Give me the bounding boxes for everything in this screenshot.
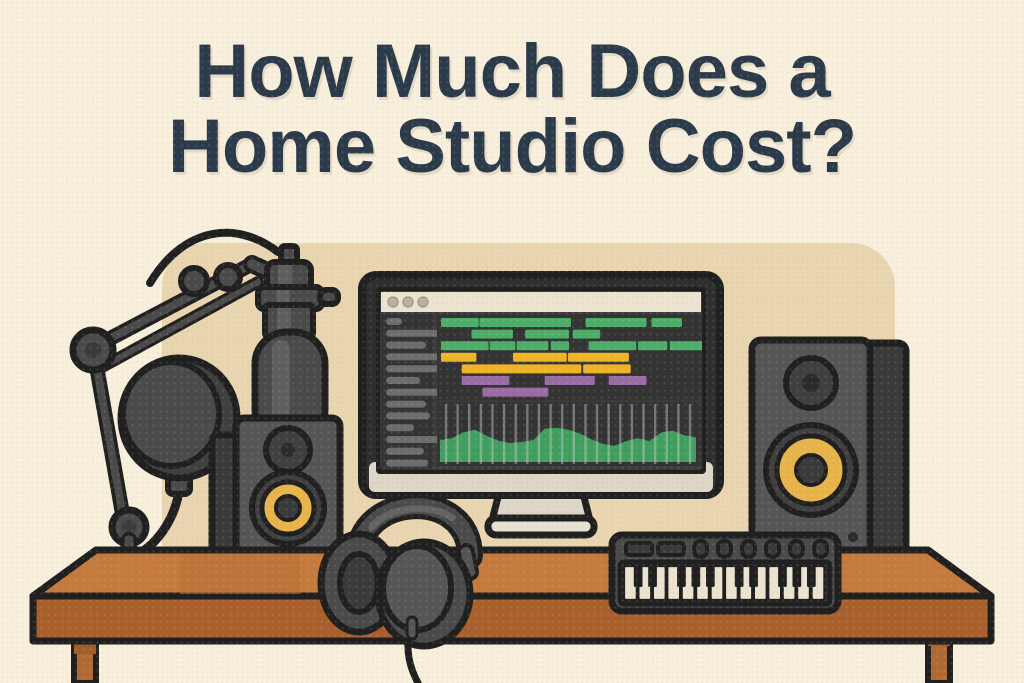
daw-clip[interactable] xyxy=(462,376,510,385)
daw-track-label[interactable] xyxy=(386,389,444,396)
daw-track-label[interactable] xyxy=(386,365,440,372)
daw-track-label[interactable] xyxy=(386,342,426,349)
daw-clip[interactable] xyxy=(441,353,476,362)
midi-black-key[interactable] xyxy=(692,566,701,587)
daw-track-label[interactable] xyxy=(386,436,440,443)
midi-black-key[interactable] xyxy=(749,566,758,587)
daw-clip[interactable] xyxy=(573,330,600,339)
daw-clip[interactable] xyxy=(462,364,582,373)
daw-track-label[interactable] xyxy=(386,448,424,455)
desk-top xyxy=(33,550,991,596)
daw-clip[interactable] xyxy=(490,341,516,350)
midi-black-key[interactable] xyxy=(706,566,715,587)
daw-clip[interactable] xyxy=(482,388,548,397)
title-line-2: Home Studio Cost? xyxy=(0,109,1024,184)
daw-clip[interactable] xyxy=(441,341,489,350)
desk-apron xyxy=(33,596,991,641)
desk xyxy=(33,550,991,683)
daw-clip[interactable] xyxy=(609,376,647,385)
daw-screen xyxy=(380,291,708,472)
daw-clip[interactable] xyxy=(513,353,567,362)
midi-knob[interactable] xyxy=(790,541,803,557)
daw-clip[interactable] xyxy=(472,330,513,339)
daw-clip[interactable] xyxy=(551,341,569,350)
daw-track-label[interactable] xyxy=(386,401,426,408)
midi-black-key[interactable] xyxy=(648,566,657,587)
studio-monitor-left xyxy=(212,418,340,555)
window-dot-maximize xyxy=(418,297,428,307)
window-dot-minimize xyxy=(403,297,413,307)
daw-clip[interactable] xyxy=(638,341,667,350)
daw-track-label[interactable] xyxy=(386,353,444,360)
midi-knob[interactable] xyxy=(742,541,755,557)
daw-clip[interactable] xyxy=(441,318,479,327)
daw-clip[interactable] xyxy=(651,318,682,327)
page-title: How Much Does a Home Studio Cost? xyxy=(0,34,1024,184)
midi-black-key[interactable] xyxy=(677,566,686,587)
midi-black-key[interactable] xyxy=(634,566,643,587)
midi-knob[interactable] xyxy=(718,541,731,557)
midi-knob[interactable] xyxy=(694,541,707,557)
daw-clip[interactable] xyxy=(479,318,571,327)
daw-track-label[interactable] xyxy=(386,412,430,419)
illustration-canvas: How Much Does a Home Studio Cost? xyxy=(0,0,1024,683)
daw-clip[interactable] xyxy=(670,341,708,350)
title-line-1: How Much Does a xyxy=(0,34,1024,109)
midi-keyboard[interactable] xyxy=(612,535,838,611)
daw-track-label[interactable] xyxy=(386,460,428,467)
daw-clip[interactable] xyxy=(568,353,629,362)
midi-black-key[interactable] xyxy=(735,566,744,587)
midi-black-key[interactable] xyxy=(807,566,816,587)
daw-clip[interactable] xyxy=(589,341,637,350)
daw-clip[interactable] xyxy=(517,341,549,350)
midi-black-key[interactable] xyxy=(793,566,802,587)
daw-track-label[interactable] xyxy=(386,318,402,325)
daw-track-label[interactable] xyxy=(386,424,414,431)
daw-clip[interactable] xyxy=(586,318,647,327)
daw-track-label[interactable] xyxy=(386,377,420,384)
daw-clip[interactable] xyxy=(545,376,595,385)
midi-knob[interactable] xyxy=(766,541,779,557)
midi-black-key[interactable] xyxy=(778,566,787,587)
daw-clip[interactable] xyxy=(525,330,569,339)
window-dot-close xyxy=(388,297,398,307)
daw-clip[interactable] xyxy=(583,364,631,373)
midi-knob[interactable] xyxy=(814,541,827,557)
studio-monitor-right xyxy=(752,340,906,555)
